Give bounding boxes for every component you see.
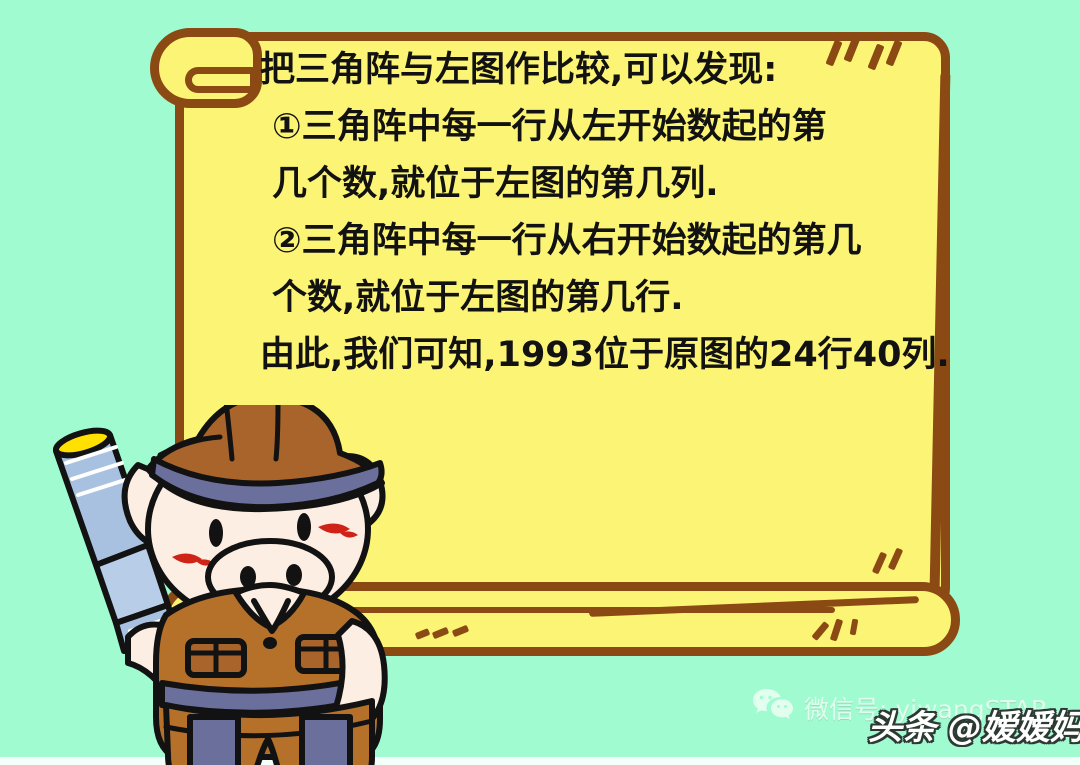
scroll-text-block: 把三角阵与左图作比较,可以发现: ①三角阵中每一行从左开始数起的第 几个数,就位… <box>260 42 950 384</box>
explorer-pig-illustration <box>40 405 420 765</box>
toutiao-watermark: 头条 @嫒嫒妈 <box>868 700 1080 749</box>
scroll-text-line: ②三角阵中每一行从右开始数起的第几 <box>260 213 950 270</box>
scroll-tick-mark <box>811 621 829 641</box>
scroll-curl-topleft <box>150 28 262 108</box>
scroll-text-line: 个数,就位于左图的第几行. <box>260 270 950 327</box>
wechat-icon <box>752 688 794 727</box>
scroll-text-line: 几个数,就位于左图的第几列. <box>260 156 950 213</box>
scroll-tick-mark <box>452 625 469 637</box>
safari-hat-icon <box>148 405 382 509</box>
pig-eye-right <box>297 513 311 541</box>
screenshot-canvas: 把三角阵与左图作比较,可以发现: ①三角阵中每一行从左开始数起的第 几个数,就位… <box>0 0 1080 765</box>
pig-eye-left <box>209 519 223 547</box>
scroll-tick-mark <box>830 618 843 641</box>
scroll-tick-mark <box>432 627 449 639</box>
scroll-tick-mark <box>850 619 859 636</box>
scroll-text-line: ①三角阵中每一行从左开始数起的第 <box>260 99 950 156</box>
scroll-text-line: 把三角阵与左图作比较,可以发现: <box>260 42 950 99</box>
scroll-text-line: 由此,我们可知,1993位于原图的24行40列. <box>260 327 950 384</box>
scroll-curl-inner <box>185 67 257 93</box>
